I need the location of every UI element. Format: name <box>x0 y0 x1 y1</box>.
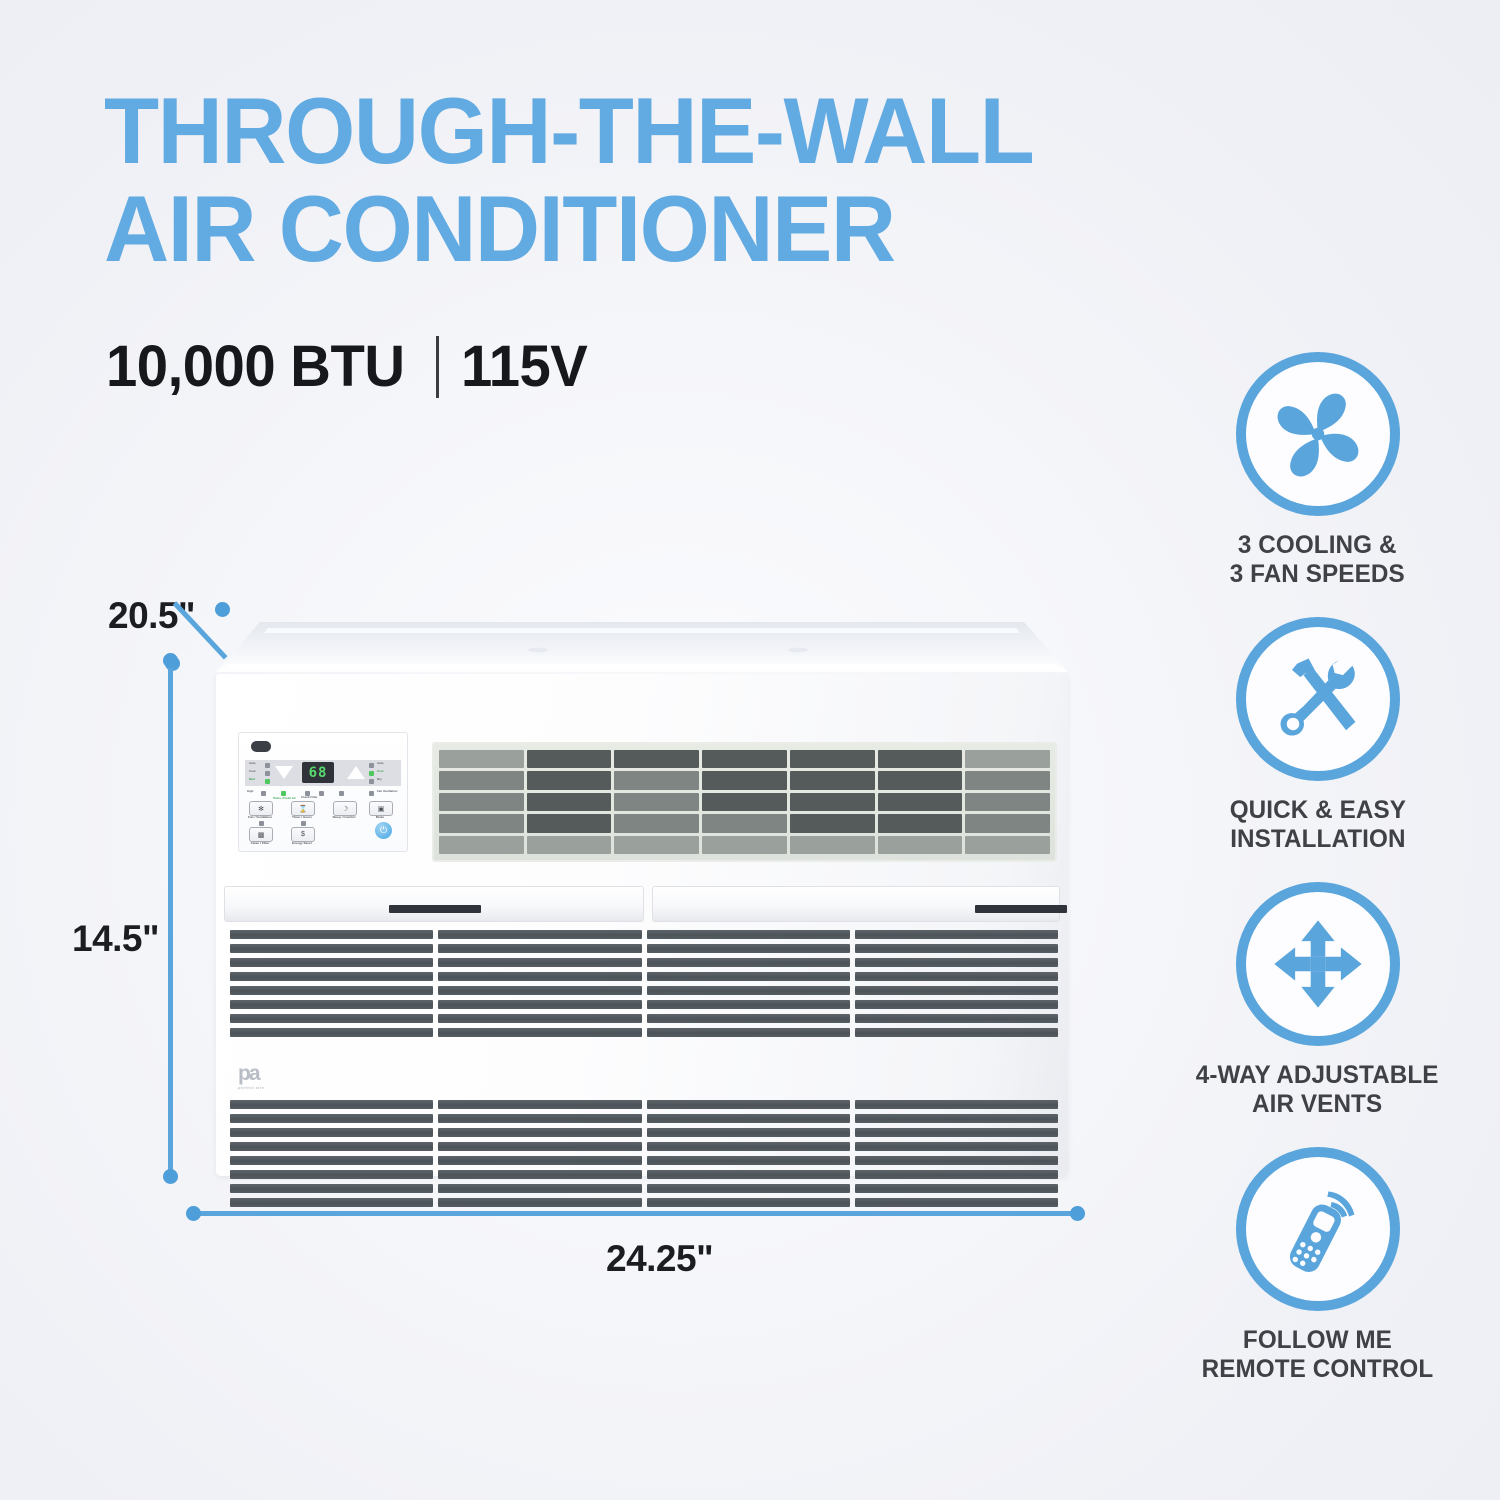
status-label-check-filter: Check Filter <box>301 796 317 799</box>
grille-slat <box>438 944 641 953</box>
led-clean-filter <box>259 821 264 826</box>
ir-receiver-icon <box>251 741 271 752</box>
grille-slat <box>438 1156 641 1165</box>
led-energy-saver <box>301 821 306 826</box>
grille-slat <box>647 944 850 953</box>
button-fan-ventilation[interactable]: ✻ <box>249 801 273 816</box>
grille-slat <box>438 972 641 981</box>
dimension-width-label: 24.25" <box>606 1238 713 1280</box>
title-line-1: THROUGH-THE-WALL <box>104 86 1179 175</box>
grille-slat <box>230 1100 433 1109</box>
brand-logo-mark: pa <box>238 1063 259 1084</box>
dimension-height-label: 14.5" <box>72 918 159 960</box>
grille-slat <box>647 1128 850 1137</box>
grille-slat <box>647 1114 850 1123</box>
grille-slat <box>230 930 433 939</box>
button-clean-filter[interactable]: ▩ <box>249 827 273 842</box>
spec-btu: 10,000 BTU <box>106 333 404 400</box>
grille-slat <box>647 972 850 981</box>
grille-slat <box>230 972 433 981</box>
indicator-label-cool-right: Cool <box>377 770 383 773</box>
feature-item-follow-me-remote: FOLLOW ME REMOTE CONTROL <box>1145 1147 1490 1384</box>
status-label-turbo: Turbo / Fresh Air <box>273 797 296 800</box>
grille-slat <box>230 1170 433 1179</box>
button-mode[interactable]: ▣ <box>369 801 393 816</box>
dimension-width-dot-left <box>186 1206 201 1221</box>
grille-slat <box>855 1014 1058 1023</box>
feature-label: 3 COOLING & 3 FAN SPEEDS <box>1230 531 1405 589</box>
feature-item-four-way-air-vents: 4-WAY ADJUSTABLE AIR VENTS <box>1145 882 1490 1119</box>
grille-slat <box>647 958 850 967</box>
spec-voltage: 115V <box>461 333 587 400</box>
grille-slat <box>855 1156 1058 1165</box>
ac-front-body: Auto Cool Med Auto Cool Dry 68 High <box>216 674 1068 1176</box>
four-way-arrows-icon <box>1236 882 1400 1046</box>
button-sleep-comfort[interactable]: ☽ <box>333 801 357 816</box>
grille-slat <box>230 1142 433 1151</box>
grille-slat <box>230 958 433 967</box>
grille-slat <box>438 930 641 939</box>
grille-slat <box>230 1000 433 1009</box>
grille-slat <box>647 1156 850 1165</box>
grille-slat <box>855 930 1058 939</box>
spec-divider <box>436 336 439 398</box>
grille-slat <box>647 1014 850 1023</box>
feature-list: 3 COOLING & 3 FAN SPEEDS QUICK & EASY IN… <box>1145 352 1490 1412</box>
product-image-air-conditioner: Auto Cool Med Auto Cool Dry 68 High <box>208 616 1076 1176</box>
grille-slat <box>855 972 1058 981</box>
grille-slat <box>438 986 641 995</box>
dimension-depth-dot-far <box>215 602 230 617</box>
dimension-width-dot-right <box>1070 1206 1085 1221</box>
grille-slat <box>855 958 1058 967</box>
power-button[interactable]: ⏻ <box>375 822 392 839</box>
temp-down-arrow-icon[interactable] <box>275 766 293 779</box>
feature-label: FOLLOW ME REMOTE CONTROL <box>1202 1326 1434 1384</box>
feature-item-cooling-fan-speeds: 3 COOLING & 3 FAN SPEEDS <box>1145 352 1490 589</box>
hammer-wrench-icon <box>1236 617 1400 781</box>
led-cool-left <box>265 771 270 776</box>
grille-slat <box>438 1198 641 1207</box>
grille-slat <box>855 1198 1058 1207</box>
grille-slat <box>647 986 850 995</box>
ac-top-cover <box>208 616 1076 678</box>
brand-logo-sub: perfect aire <box>238 1085 264 1090</box>
led-cool-right <box>369 771 374 776</box>
dimension-height-dot-top <box>163 653 178 668</box>
temp-up-arrow-icon[interactable] <box>347 766 365 779</box>
infographic-canvas: THROUGH-THE-WALL AIR CONDITIONER 10,000 … <box>0 0 1500 1500</box>
led-high <box>261 791 266 796</box>
grille-slat <box>438 1028 641 1037</box>
spec-subtitle: 10,000 BTU 115V <box>106 333 591 400</box>
status-label-high: High <box>247 790 253 793</box>
grille-slat <box>855 1114 1058 1123</box>
button-energy-saver[interactable]: $ <box>291 827 315 842</box>
grille-slat <box>230 1156 433 1165</box>
vent-grid <box>439 750 1050 854</box>
grille-slat <box>230 1198 433 1207</box>
grille-slat <box>230 986 433 995</box>
indicator-label-med-left: Med <box>249 778 255 781</box>
grille-slat <box>647 1170 850 1179</box>
louver-slot-right <box>975 905 1067 913</box>
dimension-height-dot-bottom <box>163 1169 178 1184</box>
indicator-label-auto-right: Auto <box>377 762 384 765</box>
page-title: THROUGH-THE-WALL AIR CONDITIONER <box>104 86 1224 274</box>
fan-icon <box>1236 352 1400 516</box>
button-caption-timer-hours: Timer / Hours <box>288 815 316 819</box>
temperature-display: 68 <box>302 762 334 783</box>
indicator-label-dry-right: Dry <box>377 778 382 781</box>
led-med-left <box>265 779 270 784</box>
brand-logo: pa perfect aire <box>238 1062 298 1090</box>
grille-slat <box>855 1128 1058 1137</box>
grille-slat <box>855 1170 1058 1179</box>
dimension-height-line <box>168 660 173 1176</box>
led-sleep <box>339 791 344 796</box>
louver-slot-left <box>389 905 481 913</box>
grille-slat <box>647 1142 850 1151</box>
grille-slat <box>647 1100 850 1109</box>
grille-slat <box>438 958 641 967</box>
grille-slat <box>647 930 850 939</box>
grille-slat <box>855 986 1058 995</box>
grille-slat <box>438 1170 641 1179</box>
feature-item-quick-easy-installation: QUICK & EASY INSTALLATION <box>1145 617 1490 854</box>
grille-slat <box>855 1184 1058 1193</box>
top-discharge-vent <box>432 742 1057 862</box>
front-grille-lower <box>230 1100 1058 1207</box>
button-caption-clean-filter: Clean / Filter <box>246 841 274 845</box>
indicator-label-auto-left: Auto <box>249 762 256 765</box>
grille-slat <box>855 1028 1058 1037</box>
grille-slat <box>438 1014 641 1023</box>
grille-slat <box>230 1184 433 1193</box>
grille-slat <box>647 1000 850 1009</box>
led-dry-right <box>369 779 374 784</box>
button-timer-hours[interactable]: ⌛ <box>291 801 315 816</box>
louver-handle-right[interactable] <box>652 886 1060 922</box>
dimension-width-line <box>193 1211 1077 1216</box>
grille-slat <box>855 1142 1058 1151</box>
led-fan-vent <box>369 791 374 796</box>
grille-slat <box>855 1000 1058 1009</box>
grille-slat <box>438 1114 641 1123</box>
control-panel[interactable]: Auto Cool Med Auto Cool Dry 68 High <box>238 732 408 852</box>
grille-slat <box>855 1100 1058 1109</box>
grille-slat <box>230 1028 433 1037</box>
dimension-depth-label: 20.5" <box>108 595 195 637</box>
grille-slat <box>438 1142 641 1151</box>
status-label-fan-vent: Fan Ventilation <box>377 790 397 793</box>
grille-slat <box>230 1014 433 1023</box>
led-check-filter-b <box>319 791 324 796</box>
title-line-2: AIR CONDITIONER <box>104 184 1179 273</box>
grille-slat <box>438 1184 641 1193</box>
button-caption-sleep-comfort: Sleep / Comfort <box>330 815 358 819</box>
feature-label: QUICK & EASY INSTALLATION <box>1229 796 1405 854</box>
led-auto-left <box>265 763 270 768</box>
grille-slat <box>647 1184 850 1193</box>
grille-slat <box>230 944 433 953</box>
front-grille-upper <box>230 930 1058 1037</box>
grille-slat <box>647 1028 850 1037</box>
remote-control-icon <box>1236 1147 1400 1311</box>
louver-handle-left[interactable] <box>224 886 644 922</box>
grille-slat <box>438 1128 641 1137</box>
grille-slat <box>230 1114 433 1123</box>
led-auto-right <box>369 763 374 768</box>
button-caption-mode: Mode <box>366 815 394 819</box>
grille-slat <box>230 1128 433 1137</box>
grille-slat <box>855 944 1058 953</box>
feature-label: 4-WAY ADJUSTABLE AIR VENTS <box>1196 1061 1439 1119</box>
grille-slat <box>647 1198 850 1207</box>
button-caption-energy-saver: Energy Saver <box>288 841 316 845</box>
grille-slat <box>438 1000 641 1009</box>
button-caption-fan-ventilation: Fan / Ventilation <box>246 815 274 819</box>
grille-slat <box>438 1100 641 1109</box>
indicator-label-cool-left: Cool <box>249 770 255 773</box>
